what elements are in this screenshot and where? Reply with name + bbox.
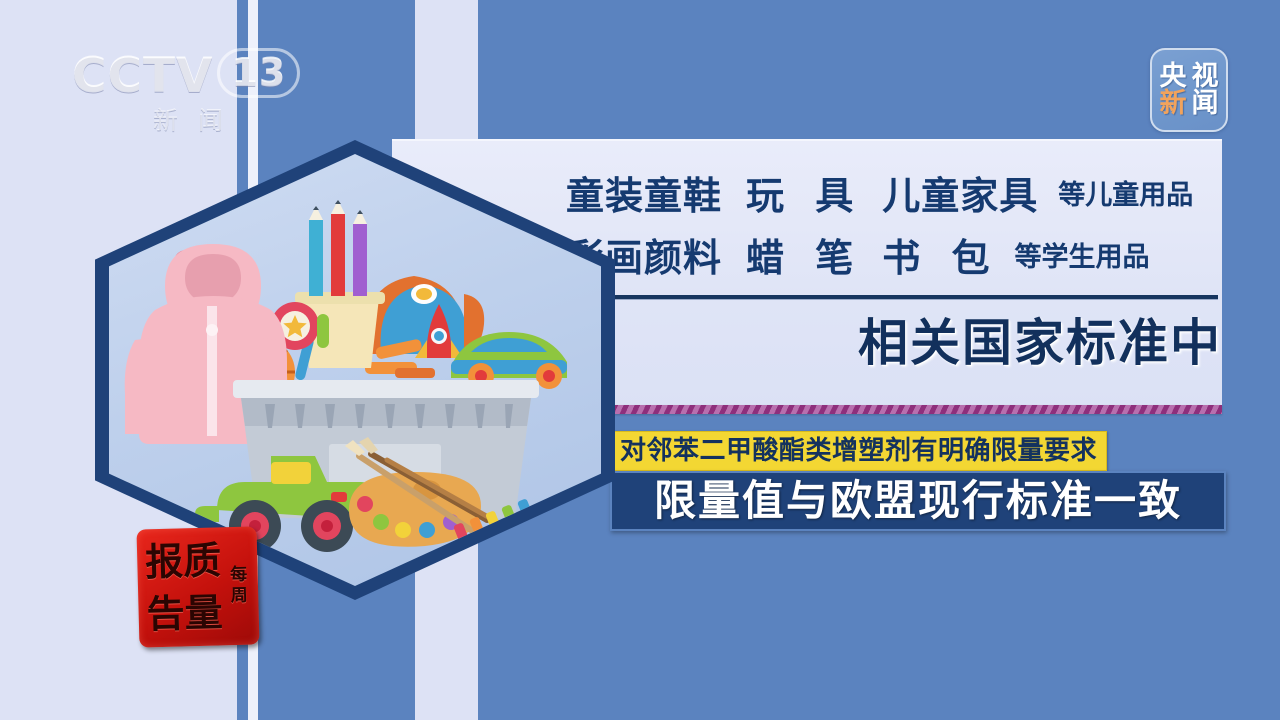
news-logo-char-1: 央 xyxy=(1157,63,1189,90)
row2-tail-text: 等学生用品 xyxy=(1014,234,1149,282)
seal-char-3: 告 xyxy=(146,587,185,640)
row1-tail-text: 等儿童用品 xyxy=(1058,172,1193,220)
seal-side-char-2: 周 xyxy=(231,588,248,605)
childrens-products-illustration xyxy=(109,154,601,586)
news-logo-char-4: 闻 xyxy=(1189,90,1221,117)
statement-banner: 限量值与欧盟现行标准一致 xyxy=(610,471,1226,531)
chip-crayons: 蜡 笔 xyxy=(740,234,864,282)
seal-side-chars: 每 周 xyxy=(221,533,258,638)
product-row-students: 彩画颜料 蜡 笔 书 包 等学生用品 xyxy=(560,234,1149,282)
product-row-children: 童装童鞋 玩 具 儿童家具 等儿童用品 xyxy=(560,172,1193,220)
statement-banner-text: 限量值与欧盟现行标准一致 xyxy=(654,477,1182,525)
highlight-banner: 对邻苯二甲酸酯类增塑剂有明确限量要求 xyxy=(610,431,1107,471)
seal-side-char-1: 每 xyxy=(230,567,247,584)
chip-toys: 玩 具 xyxy=(740,172,864,220)
chip-childrens-furniture: 儿童家具 xyxy=(876,172,1044,220)
news-logo-char-3: 新 xyxy=(1157,90,1189,117)
backpack-graphic xyxy=(363,276,484,354)
seal-char-4: 量 xyxy=(184,586,223,639)
news-logo-char-2: 视 xyxy=(1189,63,1221,90)
highlight-banner-text: 对邻苯二甲酸酯类增塑剂有明确限量要求 xyxy=(620,436,1097,466)
seal-char-2: 质 xyxy=(183,534,222,587)
broadcast-frame: CCTV13 新闻 央 视 新 闻 童装童鞋 玩 具 儿童家具 等儿童用品 彩画… xyxy=(0,0,1280,720)
cctv-news-logo: 央 视 新 闻 xyxy=(1150,48,1228,132)
panel-divider xyxy=(586,295,1218,299)
panel-headline: 相关国家标准中 xyxy=(858,310,1222,376)
colored-pencils-graphic xyxy=(309,200,367,296)
seal-char-1: 报 xyxy=(145,535,184,588)
chip-schoolbags: 书 包 xyxy=(876,234,1000,282)
hexagon-inner xyxy=(109,154,601,586)
program-seal-logo: 报 质 告 量 每 周 xyxy=(136,526,259,647)
